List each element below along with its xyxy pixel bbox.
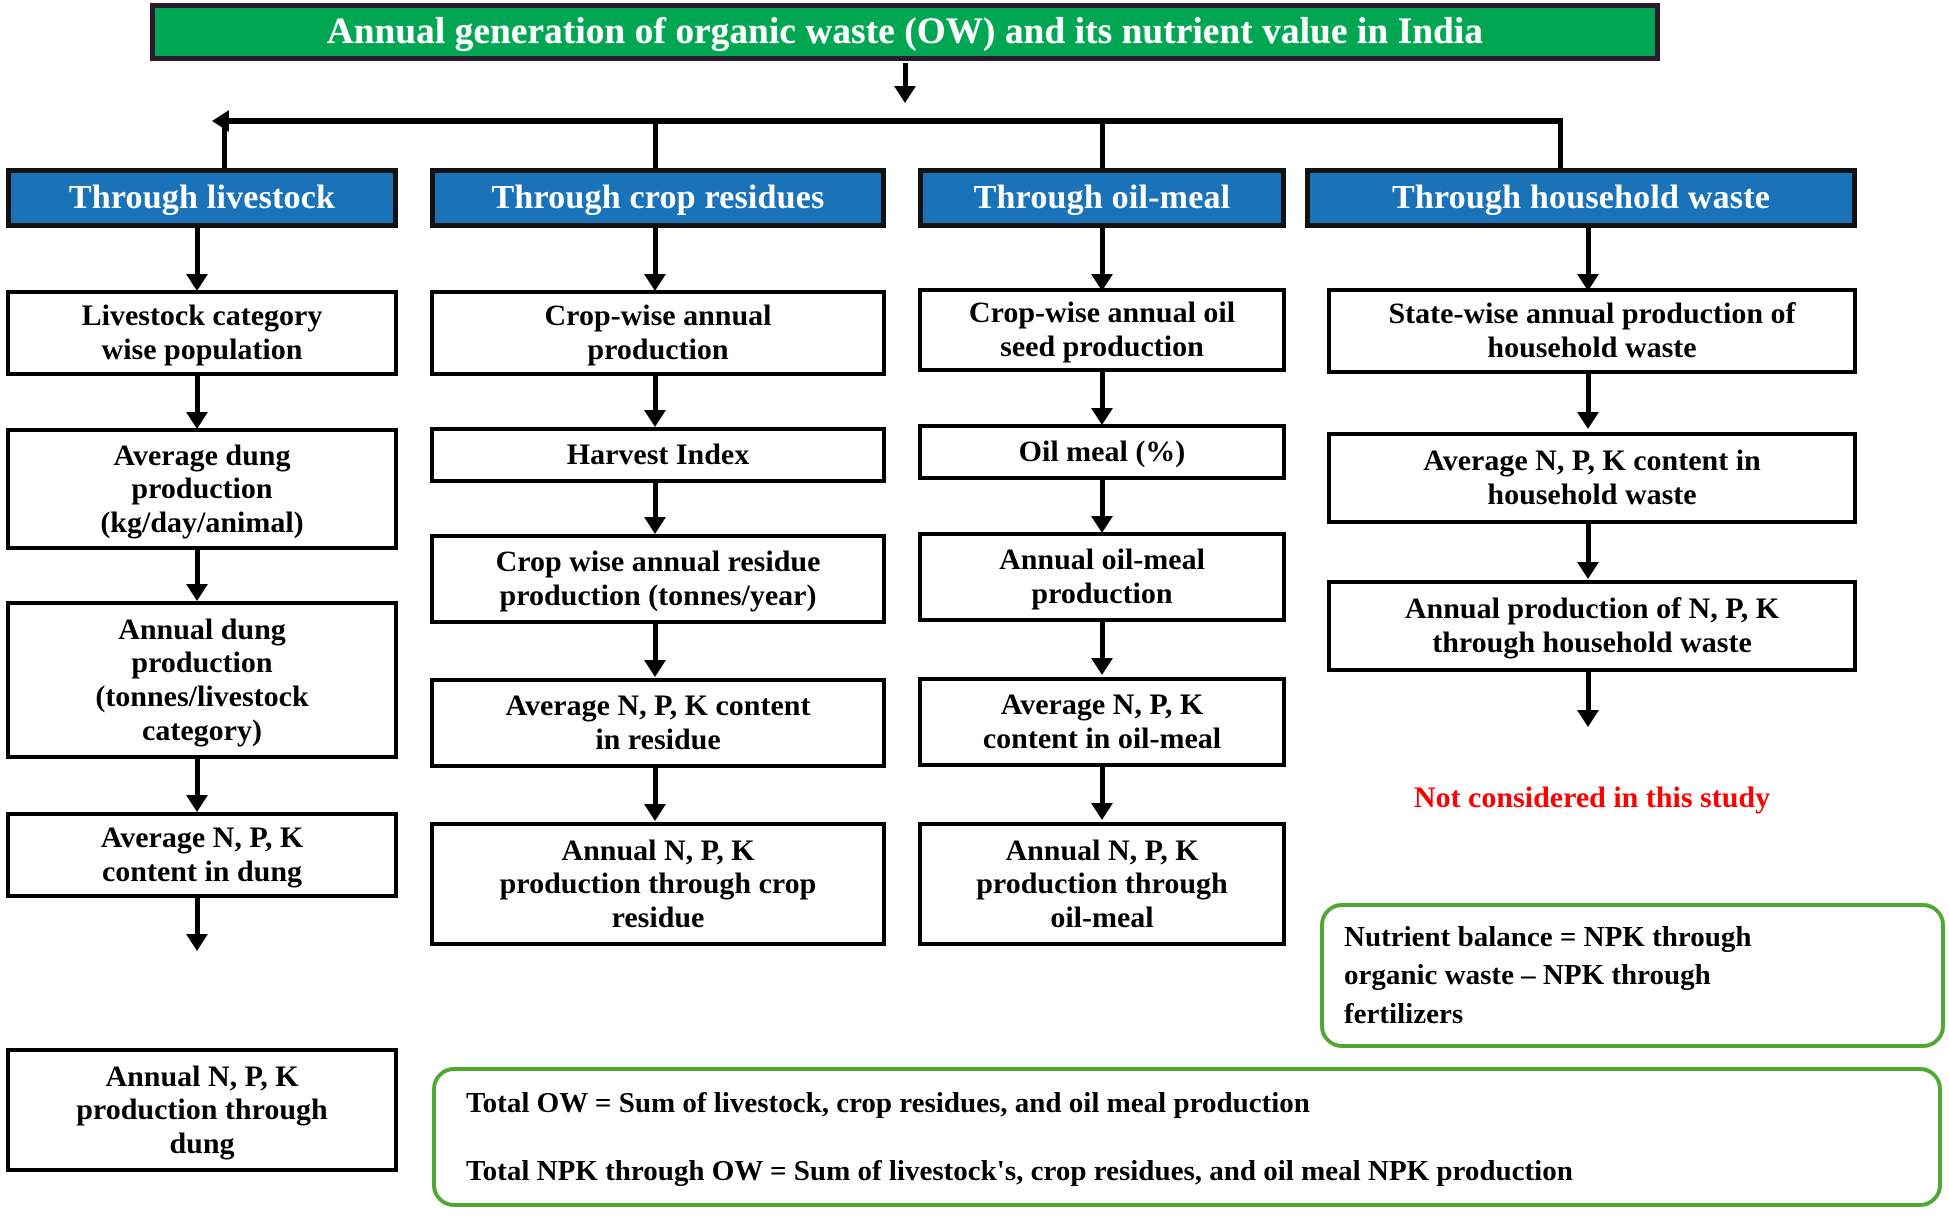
nutrient-balance-line-3: fertilizers: [1344, 995, 1921, 1033]
node-livestock-step-3[interactable]: Annual dung production (tonnes/livestock…: [6, 601, 398, 759]
node-oilmeal-step-1[interactable]: Crop-wise annual oil seed production: [918, 288, 1286, 372]
arrowhead-livestock-s4: [186, 795, 208, 812]
node-oilmeal-step-3[interactable]: Annual oil-meal production: [918, 532, 1286, 622]
arrowhead-oilmeal-s5: [1091, 803, 1113, 820]
node-oilmeal-step-2[interactable]: Oil meal (%): [918, 424, 1286, 480]
node-oilmeal-step-4-line-2: content in oil-meal: [983, 722, 1221, 756]
node-livestock-step-2-line-1: Average dung: [114, 439, 291, 473]
node-household-step-1-line-2: household waste: [1487, 331, 1696, 365]
arrowhead-livestock-s2: [186, 412, 208, 429]
connector-crop-h-to-s1: [653, 228, 658, 280]
node-oilmeal-step-1-line-2: seed production: [1000, 330, 1204, 364]
node-oilmeal-step-2-line-1: Oil meal (%): [1019, 435, 1186, 469]
node-crop-step-1-line-1: Crop-wise annual: [545, 299, 772, 333]
connector-oilmeal-h-to-s1: [1100, 228, 1105, 280]
node-livestock-step-2-line-3: (kg/day/animal): [100, 506, 303, 540]
node-oilmeal-step-4-line-1: Average N, P, K: [1001, 688, 1203, 722]
node-oilmeal-step-3-line-2: production: [1031, 577, 1172, 611]
totals-summary-box: Total OW = Sum of livestock, crop residu…: [432, 1067, 1942, 1207]
flowchart-canvas: Annual generation of organic waste (OW) …: [0, 0, 1949, 1216]
node-livestock-step-1-line-2: wise population: [102, 333, 303, 367]
arrowhead-household-s2: [1577, 412, 1599, 429]
node-crop-step-4-line-2: in residue: [595, 723, 720, 757]
household-waste-note: Not considered in this study: [1327, 778, 1857, 818]
node-household-step-2-line-2: household waste: [1487, 478, 1696, 512]
node-household-step-2[interactable]: Average N, P, K content in household was…: [1327, 432, 1857, 524]
arrowhead-livestock-s3: [186, 584, 208, 601]
arrowhead-oilmeal-s2: [1091, 408, 1113, 425]
node-livestock-step-2[interactable]: Average dung production (kg/day/animal): [6, 428, 398, 550]
nutrient-balance-box: Nutrient balance = NPK through organic w…: [1320, 903, 1945, 1048]
node-livestock-step-3-line-4: category): [142, 714, 262, 748]
node-household-step-1-line-1: State-wise annual production of: [1389, 297, 1796, 331]
connector-household-h-to-s1: [1586, 228, 1591, 280]
node-crop-step-3[interactable]: Crop wise annual residue production (ton…: [430, 534, 886, 624]
arrowhead-title-to-bus: [894, 86, 916, 103]
node-oilmeal-step-3-line-1: Annual oil-meal: [999, 543, 1205, 577]
nutrient-balance-line-1: Nutrient balance = NPK through: [1344, 918, 1921, 956]
node-oilmeal-step-5-line-1: Annual N, P, K: [1005, 834, 1198, 868]
arrowhead-crop-s4: [644, 660, 666, 677]
arrowhead-household-s3: [1577, 562, 1599, 579]
node-crop-step-5-line-3: residue: [612, 901, 705, 935]
node-crop-step-1[interactable]: Crop-wise annual production: [430, 290, 886, 376]
arrowhead-crop-s2: [644, 410, 666, 427]
branch-header-livestock-label: Through livestock: [69, 179, 335, 217]
node-oilmeal-step-1-line-1: Crop-wise annual oil: [969, 296, 1235, 330]
branch-header-crop-residues[interactable]: Through crop residues: [430, 168, 886, 228]
node-livestock-step-2-line-2: production: [131, 472, 272, 506]
node-livestock-step-4[interactable]: Average N, P, K content in dung: [6, 812, 398, 898]
node-household-step-2-line-1: Average N, P, K content in: [1423, 444, 1760, 478]
arrowhead-livestock-s1: [186, 274, 208, 291]
arrowhead-crop-s1: [644, 274, 666, 291]
node-crop-step-4[interactable]: Average N, P, K content in residue: [430, 678, 886, 768]
node-livestock-step-5[interactable]: Annual N, P, K production through dung: [6, 1048, 398, 1172]
branch-header-household-waste-label: Through household waste: [1392, 179, 1770, 217]
diagram-title-text: Annual generation of organic waste (OW) …: [327, 11, 1483, 52]
node-livestock-step-4-line-1: Average N, P, K: [101, 821, 303, 855]
total-ow-line: Total OW = Sum of livestock, crop residu…: [466, 1084, 1918, 1122]
total-npk-line: Total NPK through OW = Sum of livestock'…: [466, 1152, 1918, 1190]
arrowhead-crop-s3: [644, 517, 666, 534]
node-livestock-step-1[interactable]: Livestock category wise population: [6, 290, 398, 376]
arrowhead-crop-s5: [644, 804, 666, 821]
node-crop-step-1-line-2: production: [587, 333, 728, 367]
node-crop-step-2-line-1: Harvest Index: [567, 438, 750, 472]
node-livestock-step-5-line-2: production through: [76, 1093, 327, 1127]
node-crop-step-5[interactable]: Annual N, P, K production through crop r…: [430, 822, 886, 946]
node-household-step-3-line-2: through household waste: [1432, 626, 1752, 660]
branch-header-crop-residues-label: Through crop residues: [492, 179, 825, 217]
node-household-step-1[interactable]: State-wise annual production of househol…: [1327, 288, 1857, 374]
arrowhead-household-note: [1577, 710, 1599, 727]
node-livestock-step-3-line-3: (tonnes/livestock: [95, 680, 308, 714]
branch-header-livestock[interactable]: Through livestock: [6, 168, 398, 228]
branch-bus-line: [222, 118, 1562, 124]
node-livestock-step-3-line-1: Annual dung: [118, 613, 286, 647]
node-livestock-step-5-line-3: dung: [169, 1127, 234, 1161]
diagram-title-box: Annual generation of organic waste (OW) …: [150, 3, 1660, 61]
nutrient-balance-line-2: organic waste – NPK through: [1344, 956, 1921, 994]
node-livestock-step-1-line-1: Livestock category: [82, 299, 323, 333]
arrowhead-livestock-s5: [186, 934, 208, 951]
node-livestock-step-4-line-2: content in dung: [102, 855, 302, 889]
node-oilmeal-step-5-line-3: oil-meal: [1050, 901, 1153, 935]
node-oilmeal-step-5[interactable]: Annual N, P, K production through oil-me…: [918, 822, 1286, 946]
arrowhead-oilmeal-s3: [1091, 516, 1113, 533]
node-livestock-step-3-line-2: production: [131, 646, 272, 680]
branch-header-oil-meal[interactable]: Through oil-meal: [918, 168, 1286, 228]
node-household-step-3[interactable]: Annual production of N, P, K through hou…: [1327, 580, 1857, 672]
connector-livestock-h-to-s1: [195, 228, 200, 280]
branch-header-household-waste[interactable]: Through household waste: [1305, 168, 1857, 228]
node-crop-step-5-line-2: production through crop: [500, 867, 817, 901]
node-household-step-3-line-1: Annual production of N, P, K: [1405, 592, 1779, 626]
node-crop-step-2[interactable]: Harvest Index: [430, 427, 886, 483]
node-oilmeal-step-4[interactable]: Average N, P, K content in oil-meal: [918, 677, 1286, 767]
node-livestock-step-5-line-1: Annual N, P, K: [105, 1060, 298, 1094]
node-crop-step-5-line-1: Annual N, P, K: [561, 834, 754, 868]
branch-header-oil-meal-label: Through oil-meal: [974, 179, 1231, 217]
node-oilmeal-step-5-line-2: production through: [976, 867, 1227, 901]
node-crop-step-4-line-1: Average N, P, K content: [506, 689, 811, 723]
node-crop-step-3-line-1: Crop wise annual residue: [496, 545, 821, 579]
arrowhead-oilmeal-s4: [1091, 658, 1113, 675]
household-waste-note-text: Not considered in this study: [1414, 781, 1770, 815]
node-crop-step-3-line-2: production (tonnes/year): [500, 579, 817, 613]
